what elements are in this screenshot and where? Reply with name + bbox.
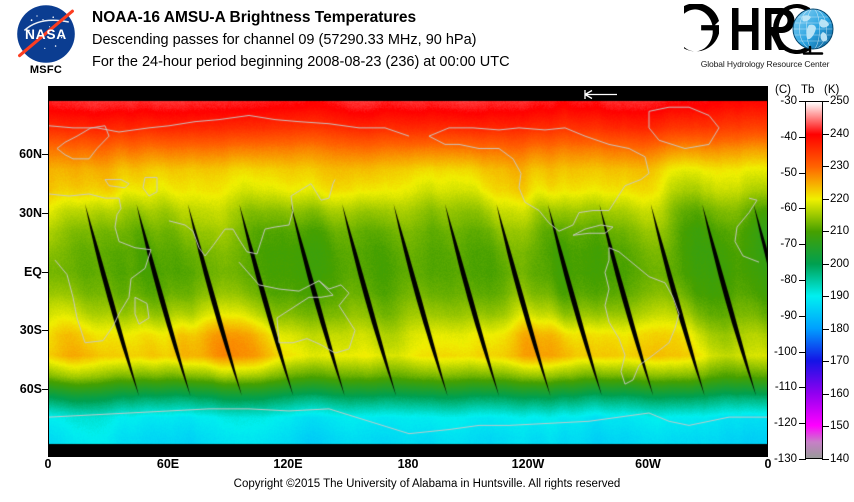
y-axis-tick bbox=[42, 389, 48, 390]
colorbar-tick-kelvin bbox=[822, 361, 829, 362]
colorbar-label-kelvin: 190 bbox=[830, 290, 849, 302]
y-axis-label: 60N bbox=[19, 147, 42, 161]
ghrc-logo: Global Hydrology Resource Center bbox=[684, 4, 846, 78]
colorbar-tick-celsius bbox=[799, 208, 806, 209]
colorbar-tick-celsius bbox=[799, 316, 806, 317]
colorbar-label-celsius: -30 bbox=[766, 95, 797, 107]
colorbar-tick-kelvin bbox=[822, 426, 829, 427]
colorbar-label-kelvin: 220 bbox=[830, 193, 849, 205]
x-axis-label: 120E bbox=[273, 457, 302, 471]
colorbar-tick-celsius bbox=[799, 423, 806, 424]
colorbar-label-kelvin: 250 bbox=[830, 95, 849, 107]
nasa-center-label: MSFC bbox=[10, 64, 82, 76]
colorbar-tick-kelvin bbox=[822, 166, 829, 167]
colorbar-tick-celsius bbox=[799, 280, 806, 281]
y-axis-tick bbox=[42, 330, 48, 331]
colorbar-tick-celsius bbox=[799, 173, 806, 174]
colorbar-label-kelvin: 180 bbox=[830, 323, 849, 335]
colorbar-tick-kelvin bbox=[822, 101, 829, 102]
colorbar-tick-kelvin bbox=[822, 199, 829, 200]
y-axis-label: EQ bbox=[24, 265, 42, 279]
x-axis-label: 60W bbox=[635, 457, 661, 471]
colorbar-label-kelvin: 230 bbox=[830, 160, 849, 172]
y-axis-tick bbox=[42, 272, 48, 273]
colorbar-label-celsius: -110 bbox=[766, 381, 797, 393]
subtitle-period: For the 24-hour period beginning 2008-08… bbox=[92, 51, 672, 73]
colorbar-label-kelvin: 240 bbox=[830, 128, 849, 140]
colorbar-tick-kelvin bbox=[822, 394, 829, 395]
title-block: NOAA-16 AMSU-A Brightness Temperatures D… bbox=[92, 7, 672, 73]
colorbar-tick-kelvin bbox=[822, 329, 829, 330]
colorbar-tick-kelvin bbox=[822, 264, 829, 265]
copyright-notice: Copyright ©2015 The University of Alabam… bbox=[0, 478, 854, 490]
colorbar-tick-celsius bbox=[799, 387, 806, 388]
colorbar-label-kelvin: 150 bbox=[830, 420, 849, 432]
colorbar-tick-celsius bbox=[799, 101, 806, 102]
nasa-meatball-icon: NASA bbox=[16, 4, 76, 64]
y-axis-label: 30N bbox=[19, 206, 42, 220]
colorbar-tick-kelvin bbox=[822, 231, 829, 232]
colorbar-label-celsius: -120 bbox=[766, 417, 797, 429]
ghrc-wordmark-icon bbox=[684, 4, 846, 58]
colorbar-tick-celsius bbox=[799, 352, 806, 353]
x-axis-label: 60E bbox=[157, 457, 179, 471]
y-axis-label: 30S bbox=[20, 323, 42, 337]
colorbar: (C) Tb (K) 25024023022021020019018017016… bbox=[772, 84, 854, 464]
colorbar-quantity-label: Tb bbox=[801, 84, 814, 96]
colorbar-label-celsius: -70 bbox=[766, 238, 797, 250]
colorbar-label-celsius: -130 bbox=[766, 453, 797, 465]
colorbar-label-kelvin: 200 bbox=[830, 258, 849, 270]
brightness-temperature-heatmap bbox=[49, 87, 768, 457]
colorbar-label-celsius: -80 bbox=[766, 274, 797, 286]
colorbar-label-kelvin: 160 bbox=[830, 388, 849, 400]
y-axis-tick bbox=[42, 213, 48, 214]
colorbar-label-celsius: -50 bbox=[766, 167, 797, 179]
colorbar-label-celsius: -40 bbox=[766, 131, 797, 143]
colorbar-label-kelvin: 170 bbox=[830, 355, 849, 367]
y-axis-tick bbox=[42, 154, 48, 155]
colorbar-label-celsius: -100 bbox=[766, 346, 797, 358]
x-axis-label: 120W bbox=[512, 457, 545, 471]
x-axis-label: 180 bbox=[398, 457, 419, 471]
page-header: NASA MSFC NOAA-16 AMSU-A Brightness Temp… bbox=[0, 0, 854, 86]
colorbar-tick-kelvin bbox=[822, 459, 829, 460]
y-axis-label: 60S bbox=[20, 382, 42, 396]
subtitle-channel: Descending passes for channel 09 (57290.… bbox=[92, 29, 672, 51]
colorbar-label-celsius: -60 bbox=[766, 202, 797, 214]
colorbar-label-kelvin: 210 bbox=[830, 225, 849, 237]
colorbar-tick-celsius bbox=[799, 137, 806, 138]
colorbar-tick-kelvin bbox=[822, 296, 829, 297]
colorbar-tick-kelvin bbox=[822, 134, 829, 135]
svg-text:NASA: NASA bbox=[25, 27, 67, 42]
colorbar-tick-celsius bbox=[799, 244, 806, 245]
ghrc-tagline: Global Hydrology Resource Center bbox=[684, 59, 846, 69]
colorbar-tick-celsius bbox=[799, 459, 806, 460]
colorbar-label-kelvin: 140 bbox=[830, 453, 849, 465]
page-title: NOAA-16 AMSU-A Brightness Temperatures bbox=[92, 7, 672, 29]
x-axis-label: 0 bbox=[45, 457, 52, 471]
map-plot-area bbox=[48, 86, 768, 457]
colorbar-label-celsius: -90 bbox=[766, 310, 797, 322]
nasa-logo: NASA MSFC bbox=[10, 4, 82, 82]
colorbar-gradient bbox=[805, 101, 823, 459]
